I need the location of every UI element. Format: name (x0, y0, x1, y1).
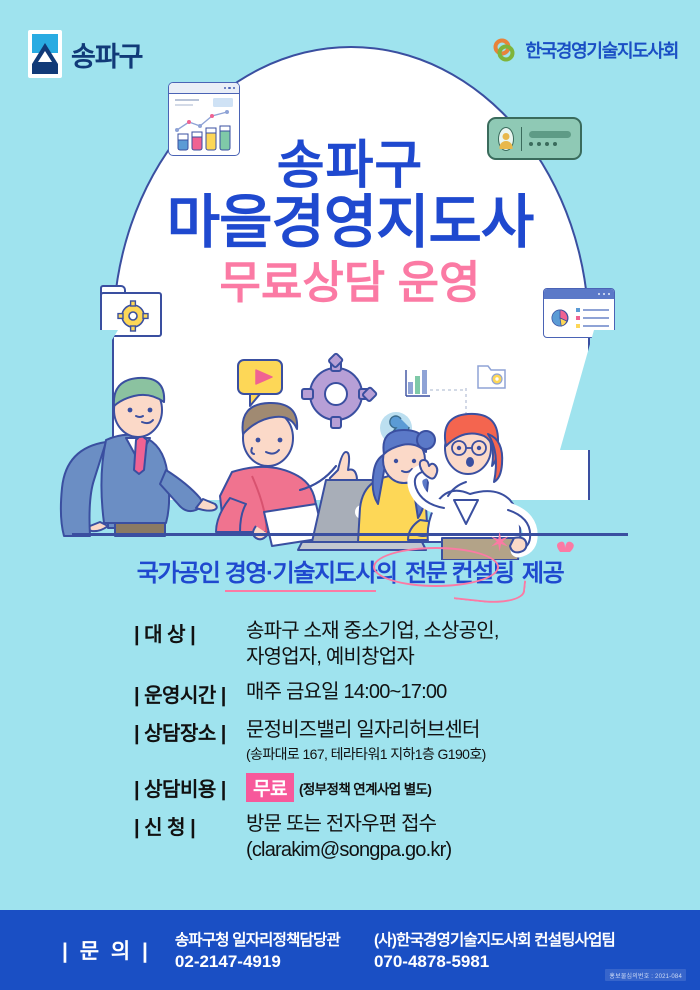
subtitle-underlined: 경영·기술지도사 (225, 560, 376, 587)
footer-tel-songpa[interactable]: 02-2147-4919 (175, 952, 340, 972)
info-value-target: 송파구 소재 중소기업, 소상공인, (246, 618, 499, 644)
songpa-gu-logo: 송파구 (28, 30, 143, 78)
subtitle-part-2: 의 (376, 560, 402, 587)
subtitle-circled: 전문 컨설팅 (402, 560, 517, 587)
poster-canvas: 송파구 한국경영기술지도사회 (0, 0, 700, 990)
username-field-bar (529, 131, 571, 138)
info-row-application: | 신 청 | 방문 또는 전자우편 접수 (clarakim@songpa.g… (0, 811, 700, 863)
subtitle-part-1: 국가공인 (137, 560, 225, 587)
approval-number: 홍보물심의번호 : 2021-084 (605, 969, 686, 981)
info-value-location: 문정비즈밸리 일자리허브센터 (246, 717, 486, 743)
info-row-location: | 상담장소 | 문정비즈밸리 일자리허브센터 (송파대로 167, 테라타워1… (0, 717, 700, 764)
title-line-3: 무료상담 운영 (0, 259, 700, 306)
kmtca-logo-label: 한국경영기술지도사회 (525, 37, 678, 63)
info-value-target-line2: 자영업자, 예비창업자 (246, 644, 499, 670)
footer-tel-kmtca[interactable]: 070-4878-5981 (374, 952, 615, 972)
bar-chart-icon (406, 370, 430, 396)
footer-org-songpa: 송파구청 일자리정책담당관 (175, 928, 340, 950)
four-people-consulting-scene: .ol { stroke:#3a4fa0; stroke-width:2; st… (0, 330, 700, 560)
info-row-hours: | 운영시간 | 매주 금요일 14:00~17:00 (0, 679, 700, 708)
info-value-application: 방문 또는 전자우편 접수 (246, 811, 451, 837)
interlocking-rings-logo-icon (486, 38, 520, 62)
songpa-logo-label: 송파구 (71, 35, 143, 74)
footer-contact-kmtca: (사)한국경영기술지도사회 컨설팅사업팀 070-4878-5981 (374, 928, 615, 972)
info-label-cost: | 상담비용 | (134, 773, 246, 802)
footer-contact-songpa: 송파구청 일자리정책담당관 02-2147-4919 (175, 928, 340, 972)
title-line-1: 송파구 (0, 140, 700, 193)
free-badge: 무료 (246, 773, 294, 802)
subtitle-part-3: 제공 (517, 560, 564, 587)
info-value-location-address: (송파대로 167, 테라타워1 지하1층 G190호) (246, 744, 486, 764)
info-value-cost-note: (정부정책 연계사업 별도) (299, 782, 431, 797)
mountain-shape-icon (32, 34, 58, 74)
person-man-blue-suit (61, 378, 217, 536)
poster-subtitle: 국가공인 경영·기술지도사의 전문 컨설팅 제공 ✶ (0, 553, 700, 588)
gear-icon (302, 353, 377, 428)
poster-title: 송파구 마을경영지도사 무료상담 운영 (0, 140, 700, 307)
star-icon: ✶ (489, 529, 509, 555)
info-list: | 대 상 | 송파구 소재 중소기업, 소상공인, 자영업자, 예비창업자 |… (0, 618, 700, 872)
footer-inquiry-label: | 문 의 | (62, 935, 151, 965)
title-line-2: 마을경영지도사 (0, 193, 700, 253)
info-row-target: | 대 상 | 송파구 소재 중소기업, 소상공인, 자영업자, 예비창업자 (0, 618, 700, 670)
info-value-hours: 매주 금요일 14:00~17:00 (246, 679, 447, 705)
pie-chart-icon (550, 304, 570, 332)
info-label-location: | 상담장소 | (134, 717, 246, 746)
footer-org-kmtca: (사)한국경영기술지도사회 컨설팅사업팀 (374, 928, 615, 950)
play-button-speech-bubble-icon (238, 360, 282, 406)
person-woman-yellow-shirt (358, 430, 435, 542)
info-label-application: | 신 청 | (134, 811, 246, 840)
kmtca-logo: 한국경영기술지도사회 (486, 37, 678, 63)
info-value-application-email: (clarakim@songpa.go.kr) (246, 837, 451, 863)
songpa-mountain-emblem-icon (28, 30, 62, 78)
desk-line (72, 533, 628, 536)
footer-contact-bar: | 문 의 | 송파구청 일자리정책담당관 02-2147-4919 (사)한국… (0, 910, 700, 990)
info-label-target: | 대 상 | (134, 618, 246, 647)
info-label-hours: | 운영시간 | (134, 679, 246, 708)
info-row-cost: | 상담비용 | 무료(정부정책 연계사업 별도) (0, 773, 700, 802)
